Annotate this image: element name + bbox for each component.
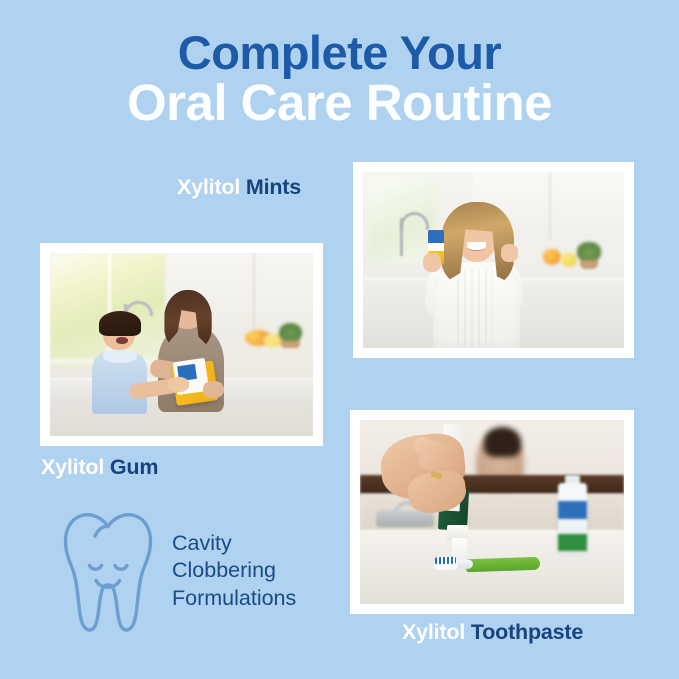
girl-right-hand: [501, 244, 518, 262]
photo-toothpaste: [360, 420, 624, 604]
caption-mints-brand: Xylitol: [177, 175, 246, 199]
caption-mints-product: Mints: [246, 175, 301, 199]
photo-gum-scene: [50, 253, 313, 436]
toothbrush-bristles: [435, 557, 456, 565]
headline-line-1: Complete Your: [0, 30, 679, 76]
caption-toothpaste-brand: Xylitol: [402, 620, 471, 644]
mother-hand: [203, 381, 224, 397]
boy-hand: [168, 377, 189, 392]
potted-plant: [577, 242, 600, 260]
photo-toothpaste-scene: [360, 420, 624, 604]
fruit-bowl-orange: [543, 249, 561, 265]
caption-xylitol-gum: Xylitol Gum: [41, 455, 158, 480]
mouthwash-bottle-label-green: [558, 534, 587, 551]
photo-frame-toothpaste: [350, 410, 634, 614]
cavity-formulations-badge: Cavity Clobbering Formulations: [62, 508, 296, 634]
cabinet-seam: [253, 253, 255, 337]
smiling-tooth-icon: [62, 508, 154, 634]
caption-xylitol-toothpaste: Xylitol Toothpaste: [402, 620, 583, 645]
caption-gum-brand: Xylitol: [41, 455, 110, 479]
boy-open-mouth: [116, 337, 128, 344]
photo-mints-scene: [363, 172, 624, 348]
page-title: Complete Your Oral Care Routine: [0, 30, 679, 128]
caption-gum-product: Gum: [110, 455, 158, 479]
caption-toothpaste-product: Toothpaste: [471, 620, 583, 644]
badge-text: Cavity Clobbering Formulations: [172, 530, 296, 612]
girl-left-hand: [423, 253, 441, 272]
photo-frame-mints: [353, 162, 634, 358]
poster-canvas: Complete Your Oral Care Routine Xylitol …: [0, 0, 679, 679]
caption-xylitol-mints: Xylitol Mints: [177, 175, 301, 200]
photo-frame-gum: [40, 243, 323, 446]
boy-collar: [103, 350, 137, 363]
boy-hair: [99, 311, 141, 337]
mouthwash-bottle-label-blue: [558, 501, 587, 519]
background-person-hair: [484, 427, 521, 456]
photo-gum: [50, 253, 313, 436]
faucet-stem: [400, 218, 403, 257]
fruit-bowl-lemon: [561, 253, 577, 267]
girl-sweater-knit-texture: [457, 269, 494, 346]
photo-mints: [363, 172, 624, 348]
potted-plant: [279, 323, 303, 341]
cabinet-seam: [549, 172, 551, 239]
toothbrush-handle: [465, 557, 539, 572]
headline-line-2: Oral Care Routine: [0, 78, 679, 128]
